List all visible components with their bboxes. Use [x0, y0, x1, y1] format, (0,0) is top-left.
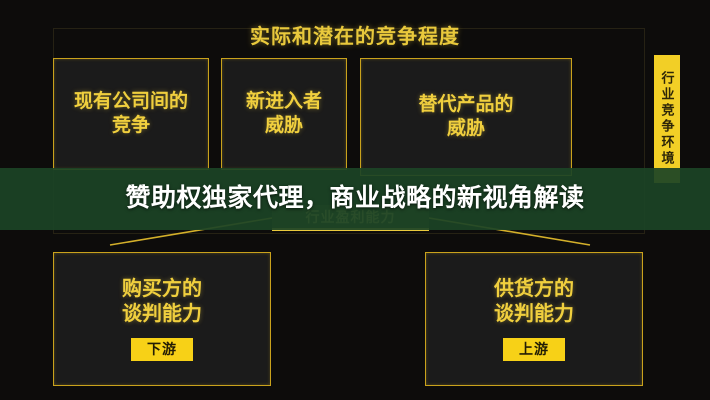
downstream-tag: 下游 — [131, 338, 193, 361]
force-label-buyer-power: 购买方的 谈判能力 — [122, 277, 202, 328]
upstream-tag: 上游 — [503, 338, 565, 361]
industry-environment-label: 行业竞争环境 — [661, 71, 674, 167]
force-label-rivalry: 现有公司间的 竞争 — [74, 90, 188, 139]
force-box-buyer-power[interactable]: 购买方的 谈判能力 下游 — [53, 252, 271, 386]
headline-overlay-text: 赞助权独家代理，商业战略的新视角解读 — [0, 178, 710, 214]
industry-environment-tab[interactable]: 行业竞争环境 — [654, 55, 680, 183]
force-label-new-entrants: 新进入者 威胁 — [246, 90, 322, 139]
force-box-new-entrants[interactable]: 新进入者 威胁 — [221, 58, 347, 170]
force-box-rivalry[interactable]: 现有公司间的 竞争 — [53, 58, 209, 170]
force-box-supplier-power[interactable]: 供货方的 谈判能力 上游 — [425, 252, 643, 386]
diagram-canvas: 实际和潜在的竞争程度 现有公司间的 竞争 新进入者 威胁 替代产品的 威胁 行业… — [0, 0, 710, 400]
force-label-substitutes: 替代产品的 威胁 — [418, 93, 513, 142]
force-box-substitutes[interactable]: 替代产品的 威胁 — [360, 58, 572, 176]
force-label-supplier-power: 供货方的 谈判能力 — [494, 277, 574, 328]
